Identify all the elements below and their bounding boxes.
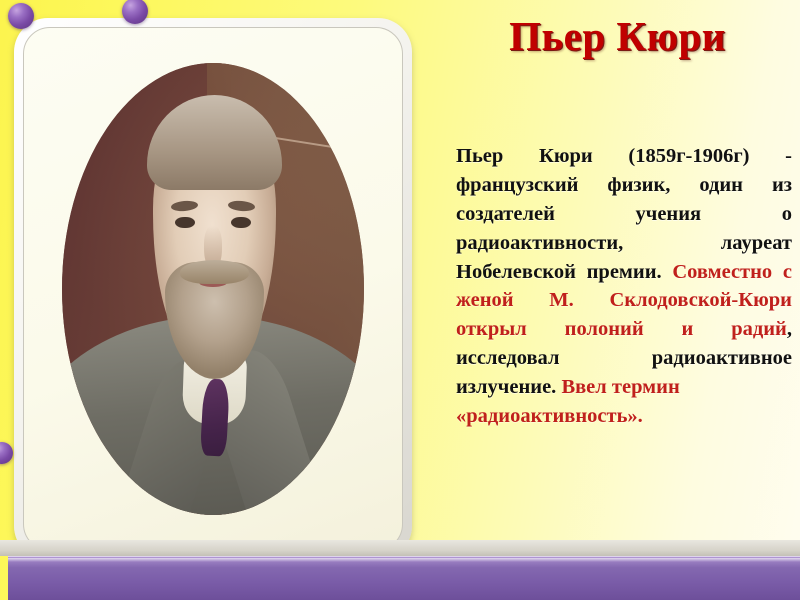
page-title: Пьер Кюри — [440, 14, 795, 59]
bottom-shelf — [0, 540, 800, 556]
bottom-bar — [8, 556, 800, 600]
portrait-eye-right — [231, 217, 251, 229]
body-text: Пьер Кюри (1859г-1906г) - французский фи… — [456, 142, 792, 431]
portrait-frame-inner — [23, 27, 403, 551]
body-segment-term: «радиоактивность». — [456, 405, 643, 427]
slide-canvas: Пьер Кюри Пьер Кюри (1859г-1906г) - фран… — [0, 0, 800, 600]
bottom-bar-highlight — [8, 558, 800, 562]
portrait-frame — [14, 18, 412, 560]
portrait-tie — [200, 379, 230, 457]
pin-icon — [0, 442, 13, 464]
body-segment-term-intro: Ввел термин — [561, 376, 679, 398]
body-paragraph: Пьер Кюри (1859г-1906г) - французский фи… — [456, 142, 792, 402]
pin-icon — [8, 3, 34, 29]
body-paragraph-last: «радиоактивность». — [456, 402, 792, 431]
portrait-photo — [62, 63, 364, 515]
portrait-moustache — [180, 260, 249, 285]
